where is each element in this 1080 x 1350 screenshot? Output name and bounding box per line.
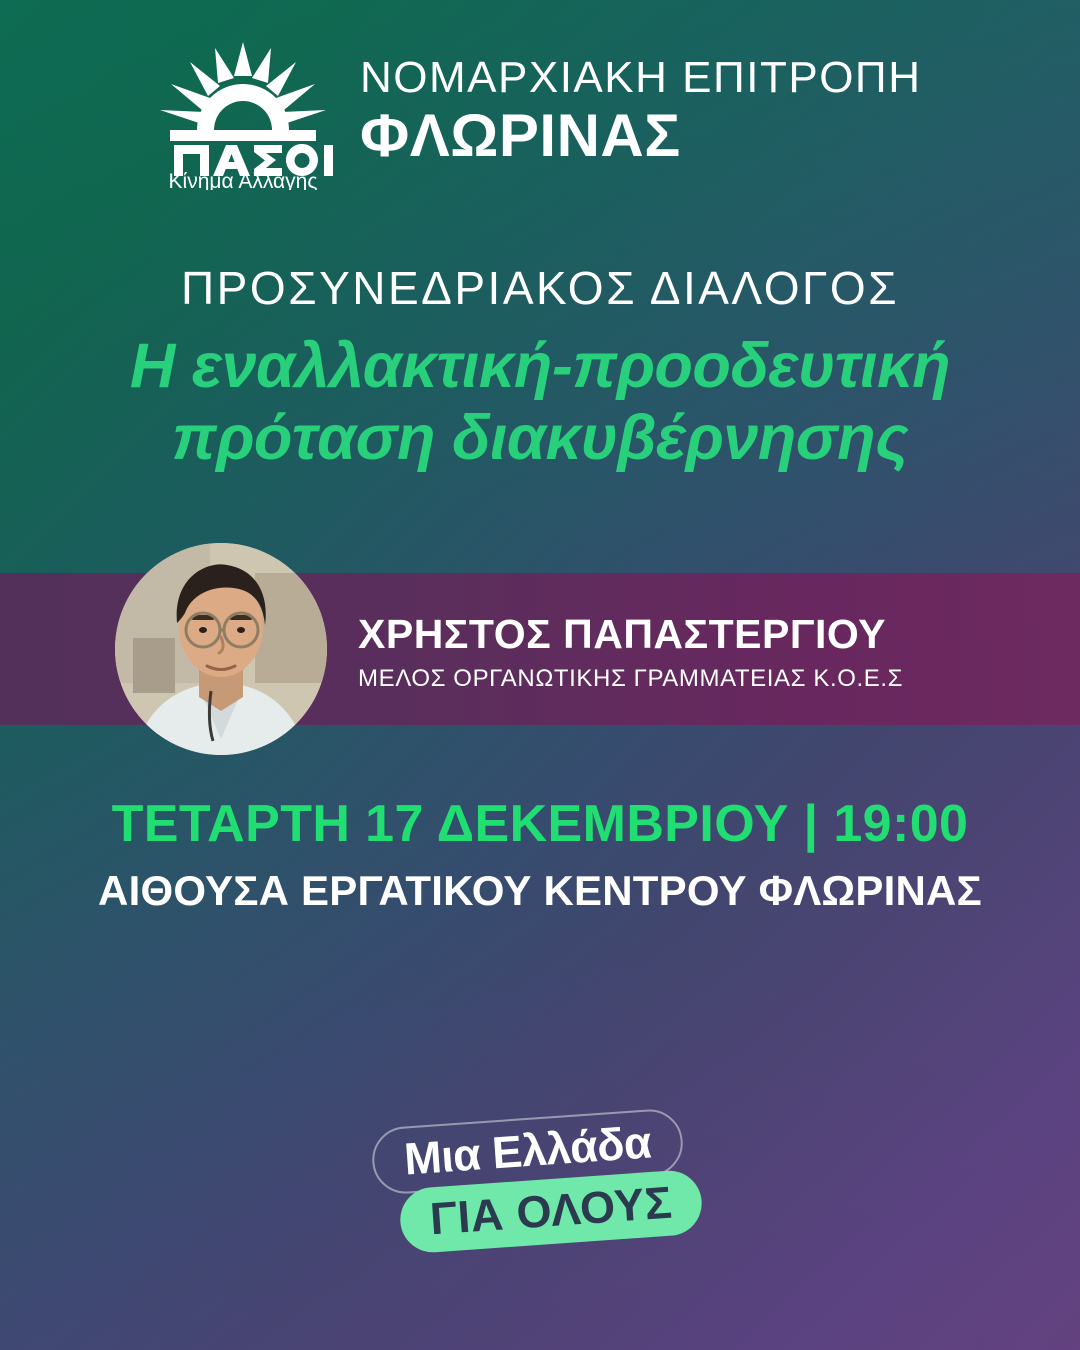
logo-subtitle: Κίνημα Αλλαγής <box>169 170 318 190</box>
event-poster: Κίνημα Αλλαγής ΝΟΜΑΡΧΙΑΚΗ ΕΠΙΤΡΟΠΗ ΦΛΩΡΙ… <box>0 0 1080 1350</box>
campaign-slogan: Μια Ελλάδα ΓΙΑ ΟΛΟΥΣ <box>372 1118 672 1244</box>
committee-region: ΦΛΩΡΙΝΑΣ <box>360 104 921 168</box>
title-block: ΠΡΟΣΥΝΕΔΡΙΑΚΟΣ ΔΙΑΛΟΓΟΣ Η εναλλακτική-πρ… <box>0 262 1080 475</box>
header-text-block: ΝΟΜΑΡΧΙΑΚΗ ΕΠΙΤΡΟΠΗ ΦΛΩΡΙΝΑΣ <box>360 55 921 173</box>
speaker-name: ΧΡΗΣΤΟΣ ΠΑΠΑΣΤΕΡΓΙΟΥ <box>358 612 903 656</box>
speaker-avatar <box>115 543 327 755</box>
speaker-details: ΧΡΗΣΤΟΣ ΠΑΠΑΣΤΕΡΓΙΟΥ ΜΕΛΟΣ ΟΡΓΑΝΩΤΙΚΗΣ Γ… <box>358 612 903 694</box>
poster-header: Κίνημα Αλλαγής ΝΟΜΑΡΧΙΑΚΗ ΕΠΙΤΡΟΠΗ ΦΛΩΡΙ… <box>152 38 921 190</box>
event-headline-line2: πρόταση διακυβέρνησης <box>60 403 1020 475</box>
event-headline-line1: Η εναλλακτική-προοδευτική <box>60 331 1020 403</box>
committee-label: ΝΟΜΑΡΧΙΑΚΗ ΕΠΙΤΡΟΠΗ <box>360 55 921 102</box>
speaker-role: ΜΕΛΟΣ ΟΡΓΑΝΩΤΙΚΗΣ ΓΡΑΜΜΑΤΕΙΑΣ Κ.Ο.Ε.Σ <box>358 665 903 694</box>
event-headline: Η εναλλακτική-προοδευτική πρόταση διακυβ… <box>0 331 1080 475</box>
event-kicker: ΠΡΟΣΥΝΕΔΡΙΑΚΟΣ ΔΙΑΛΟΓΟΣ <box>0 262 1080 315</box>
event-venue: ΑΙΘΟΥΣΑ ΕΡΓΑΤΙΚΟΥ ΚΕΝΤΡΟΥ ΦΛΩΡΙΝΑΣ <box>0 867 1080 914</box>
event-datetime: ΤΕΤΑΡΤΗ 17 ΔΕΚΕΜΒΡΙΟΥ | 19:00 <box>0 795 1080 853</box>
pasok-sun-logo: Κίνημα Αλλαγής <box>152 38 334 190</box>
event-details: ΤΕΤΑΡΤΗ 17 ΔΕΚΕΜΒΡΙΟΥ | 19:00 ΑΙΘΟΥΣΑ ΕΡ… <box>0 795 1080 914</box>
